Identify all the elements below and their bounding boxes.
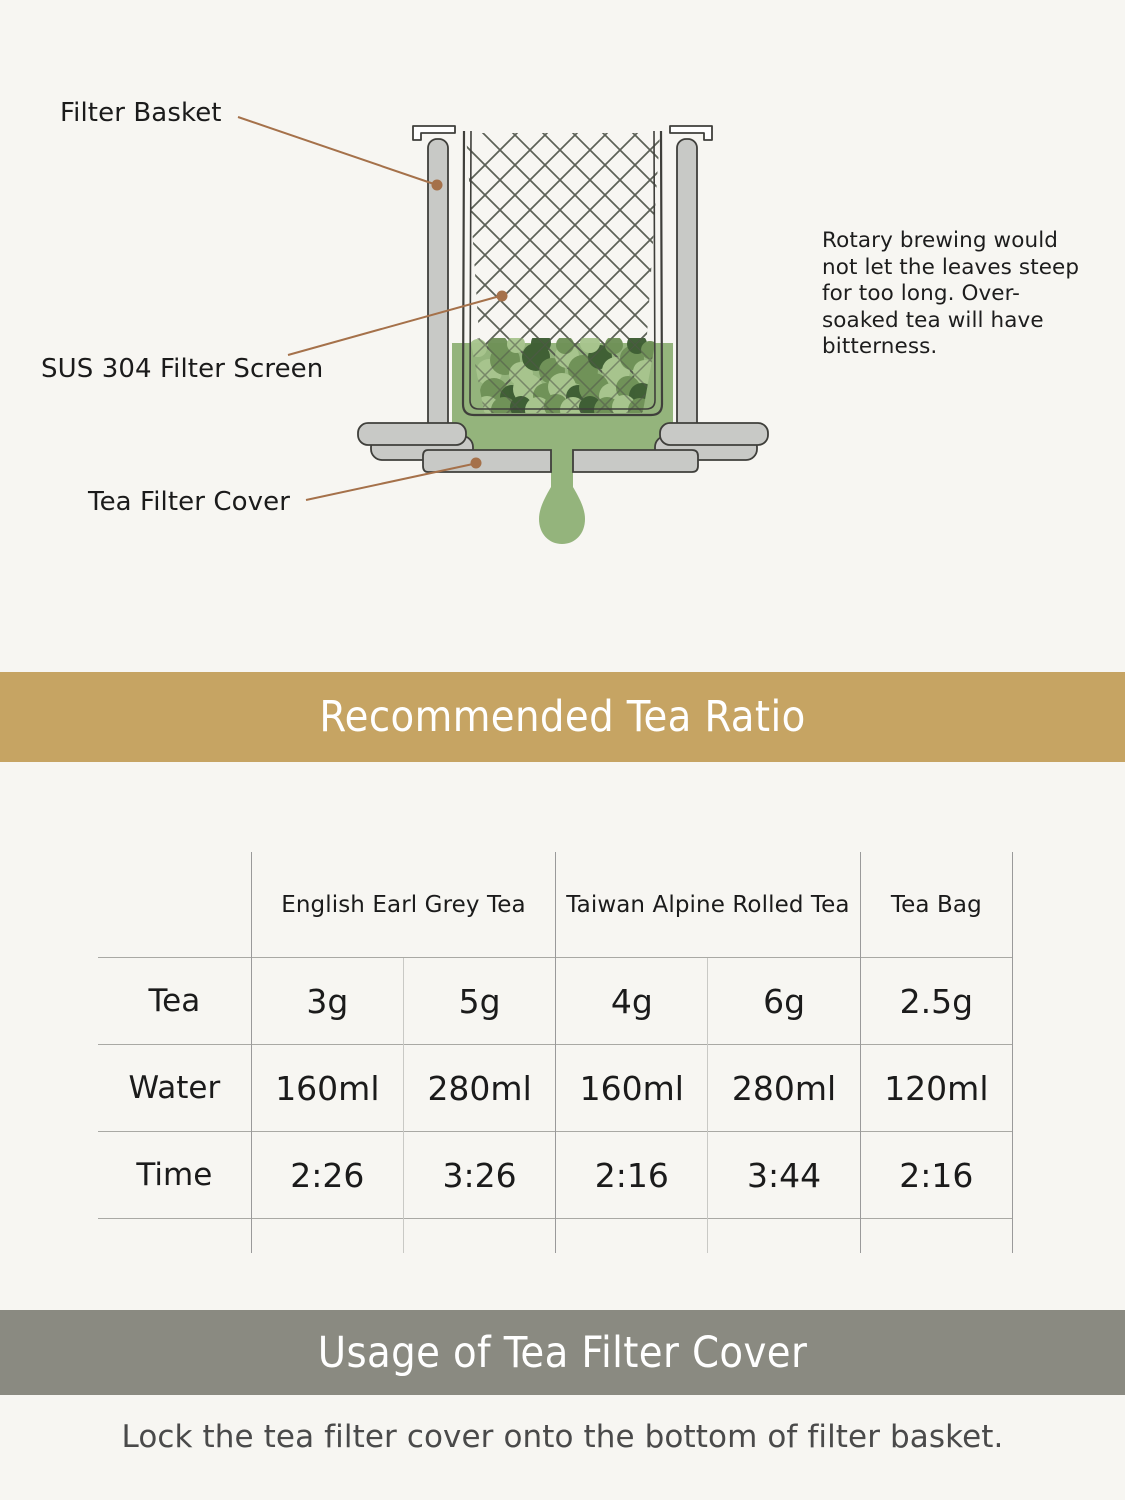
banner-usage-title: Usage of Tea Filter Cover bbox=[318, 1328, 808, 1378]
callout-filter-basket: Filter Basket bbox=[60, 98, 222, 128]
tail-3 bbox=[556, 1219, 708, 1254]
tail-5 bbox=[860, 1219, 1012, 1254]
table-row-time: Time 2:26 3:26 2:16 3:44 2:16 bbox=[98, 1132, 1013, 1219]
diagram-section: Filter Basket SUS 304 Filter Screen Tea … bbox=[0, 0, 1125, 672]
header-group-taiwan-alpine-rolled-tea: Taiwan Alpine Rolled Tea bbox=[556, 852, 860, 958]
table-tail-row bbox=[98, 1219, 1013, 1254]
callout-tea-filter-cover: Tea Filter Cover bbox=[88, 487, 290, 517]
row-label-water: Water bbox=[98, 1045, 251, 1132]
cell-water-alpine-2: 280ml bbox=[708, 1045, 860, 1132]
table-header-row: English Earl Grey Tea Taiwan Alpine Roll… bbox=[98, 852, 1013, 958]
cell-time-earlgrey-1: 2:26 bbox=[251, 1132, 403, 1219]
banner-ratio-title: Recommended Tea Ratio bbox=[319, 692, 805, 742]
cell-tea-alpine-1: 4g bbox=[556, 958, 708, 1045]
tea-ratio-table: English Earl Grey Tea Taiwan Alpine Roll… bbox=[98, 852, 1013, 1253]
cell-tea-earlgrey-1: 3g bbox=[251, 958, 403, 1045]
row-label-tea: Tea bbox=[98, 958, 251, 1045]
cell-time-teabag: 2:16 bbox=[860, 1132, 1012, 1219]
callout-sus-304-filter-screen: SUS 304 Filter Screen bbox=[41, 354, 323, 384]
row-label-time: Time bbox=[98, 1132, 251, 1219]
tail-1 bbox=[251, 1219, 403, 1254]
usage-instruction-text: Lock the tea filter cover onto the botto… bbox=[0, 1419, 1125, 1455]
tail-2 bbox=[403, 1219, 555, 1254]
banner-recommended-tea-ratio: Recommended Tea Ratio bbox=[0, 672, 1125, 762]
table-row-water: Water 160ml 280ml 160ml 280ml 120ml bbox=[98, 1045, 1013, 1132]
cell-water-teabag: 120ml bbox=[860, 1045, 1012, 1132]
cell-water-earlgrey-2: 280ml bbox=[403, 1045, 555, 1132]
cell-tea-earlgrey-2: 5g bbox=[403, 958, 555, 1045]
tail-4 bbox=[708, 1219, 860, 1254]
header-corner-blank bbox=[98, 852, 251, 958]
cell-time-alpine-1: 2:16 bbox=[556, 1132, 708, 1219]
banner-usage-of-tea-filter-cover: Usage of Tea Filter Cover bbox=[0, 1310, 1125, 1395]
cell-time-earlgrey-2: 3:26 bbox=[403, 1132, 555, 1219]
header-group-english-earl-grey-tea: English Earl Grey Tea bbox=[251, 852, 555, 958]
tea-ratio-table-section: English Earl Grey Tea Taiwan Alpine Roll… bbox=[0, 762, 1125, 1310]
basket-right-post bbox=[670, 126, 712, 439]
cell-water-alpine-1: 160ml bbox=[556, 1045, 708, 1132]
cell-tea-teabag: 2.5g bbox=[860, 958, 1012, 1045]
cell-time-alpine-2: 3:44 bbox=[708, 1132, 860, 1219]
basket-left-post bbox=[413, 126, 455, 439]
cell-water-earlgrey-1: 160ml bbox=[251, 1045, 403, 1132]
header-group-tea-bag: Tea Bag bbox=[860, 852, 1012, 958]
tail-label bbox=[98, 1219, 251, 1254]
infographic-page: Filter Basket SUS 304 Filter Screen Tea … bbox=[0, 0, 1125, 1500]
cell-tea-alpine-2: 6g bbox=[708, 958, 860, 1045]
rotary-brewing-note: Rotary brewing would not let the leaves … bbox=[822, 228, 1082, 361]
table-row-tea: Tea 3g 5g 4g 6g 2.5g bbox=[98, 958, 1013, 1045]
